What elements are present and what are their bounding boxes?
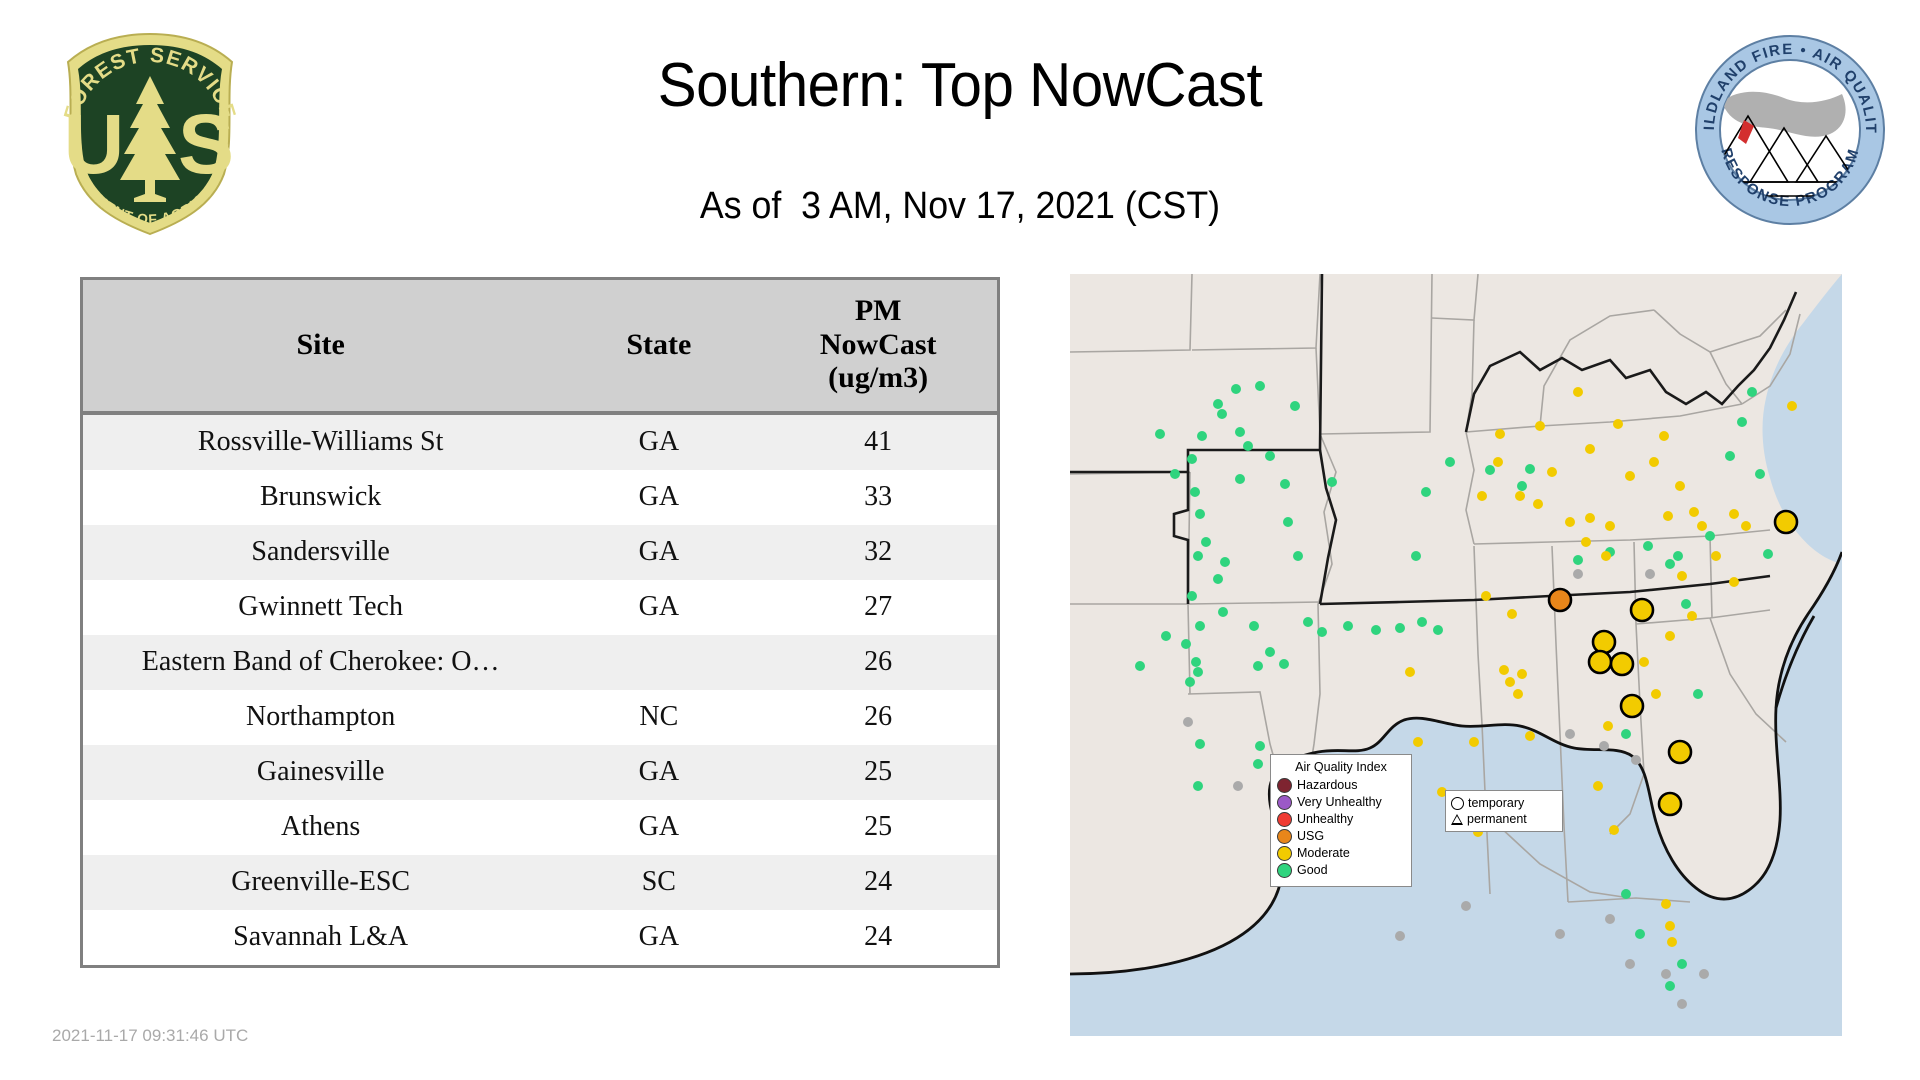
monitor-dot[interactable] bbox=[1195, 739, 1205, 749]
footer-timestamp: 2021-11-17 09:31:46 UTC bbox=[52, 1026, 248, 1046]
aqi-legend-label: Good bbox=[1297, 864, 1328, 877]
usfs-logo: FOREST SERVICE DEPARTMENT OF AGRICULTURE… bbox=[46, 28, 254, 240]
monitor-dot[interactable] bbox=[1517, 669, 1527, 679]
monitor-dot[interactable] bbox=[1661, 899, 1671, 909]
usfs-monogram-s: S bbox=[178, 97, 234, 191]
monitor-dot[interactable] bbox=[1185, 677, 1195, 687]
monitor-dot[interactable] bbox=[1677, 571, 1687, 581]
monitor-dot[interactable] bbox=[1283, 517, 1293, 527]
monitor-dot[interactable] bbox=[1461, 901, 1471, 911]
monitor-dot[interactable] bbox=[1625, 959, 1635, 969]
table-row[interactable]: Savannah L&AGA24 bbox=[83, 910, 997, 965]
aqi-legend-title: Air Quality Index bbox=[1277, 760, 1405, 774]
monitor-dot[interactable] bbox=[1573, 569, 1583, 579]
table-row[interactable]: Greenville-ESCSC24 bbox=[83, 855, 997, 910]
monitor-dot[interactable] bbox=[1699, 969, 1709, 979]
state-cell: GA bbox=[558, 525, 759, 580]
monitor-dot[interactable] bbox=[1651, 689, 1661, 699]
monitor-dot[interactable] bbox=[1609, 825, 1619, 835]
monitor-dot[interactable] bbox=[1585, 444, 1595, 454]
monitor-dot[interactable] bbox=[1729, 509, 1739, 519]
aqi-legend-item: Hazardous bbox=[1277, 777, 1405, 794]
column-header-pm-line2: NowCast bbox=[763, 328, 993, 362]
marker-legend-item-temporary: temporary bbox=[1451, 795, 1557, 811]
monitor-dot[interactable] bbox=[1603, 721, 1613, 731]
highlighted-monitor-dot[interactable] bbox=[1631, 599, 1653, 621]
table-row[interactable]: NorthamptonNC26 bbox=[83, 690, 997, 745]
monitor-dot[interactable] bbox=[1555, 929, 1565, 939]
monitor-dot[interactable] bbox=[1711, 551, 1721, 561]
monitor-dot[interactable] bbox=[1195, 509, 1205, 519]
monitor-dot[interactable] bbox=[1533, 499, 1543, 509]
monitor-dot[interactable] bbox=[1433, 625, 1443, 635]
monitor-dot[interactable] bbox=[1581, 537, 1591, 547]
monitor-dot[interactable] bbox=[1187, 454, 1197, 464]
monitor-dot[interactable] bbox=[1631, 755, 1641, 765]
monitor-dot[interactable] bbox=[1787, 401, 1797, 411]
monitor-dot[interactable] bbox=[1665, 921, 1675, 931]
highlighted-monitor-dot[interactable] bbox=[1593, 631, 1615, 653]
highlighted-monitor-dot[interactable] bbox=[1549, 589, 1571, 611]
monitor-dot[interactable] bbox=[1493, 457, 1503, 467]
highlighted-monitor-dot[interactable] bbox=[1775, 511, 1797, 533]
monitor-dot[interactable] bbox=[1218, 607, 1228, 617]
monitor-dot[interactable] bbox=[1413, 737, 1423, 747]
monitor-dot[interactable] bbox=[1213, 399, 1223, 409]
site-cell: Gwinnett Tech bbox=[83, 580, 558, 635]
monitor-dot[interactable] bbox=[1243, 441, 1253, 451]
aqi-legend-label: Moderate bbox=[1297, 847, 1350, 860]
column-header-state[interactable]: State bbox=[558, 280, 759, 413]
state-cell bbox=[558, 635, 759, 690]
monitor-dot[interactable] bbox=[1477, 491, 1487, 501]
column-header-site[interactable]: Site bbox=[83, 280, 558, 413]
monitor-dot[interactable] bbox=[1693, 689, 1703, 699]
site-cell: Athens bbox=[83, 800, 558, 855]
aqi-color-swatch bbox=[1277, 863, 1292, 878]
monitor-dot[interactable] bbox=[1371, 625, 1381, 635]
monitor-dot[interactable] bbox=[1265, 451, 1275, 461]
aqi-legend-label: Unhealthy bbox=[1297, 813, 1353, 826]
monitor-dot[interactable] bbox=[1187, 591, 1197, 601]
waqrp-logo: WILDLAND FIRE • AIR QUALITY RESPONSE PRO… bbox=[1692, 32, 1888, 228]
monitor-dot[interactable] bbox=[1689, 507, 1699, 517]
highlighted-monitor-dot[interactable] bbox=[1669, 741, 1691, 763]
monitor-dot[interactable] bbox=[1593, 781, 1603, 791]
monitor-dot[interactable] bbox=[1547, 467, 1557, 477]
site-cell: Savannah L&A bbox=[83, 910, 558, 965]
monitor-dot[interactable] bbox=[1625, 471, 1635, 481]
site-cell: Sandersville bbox=[83, 525, 558, 580]
monitor-dot[interactable] bbox=[1667, 937, 1677, 947]
monitor-dot[interactable] bbox=[1621, 729, 1631, 739]
monitor-dot[interactable] bbox=[1605, 521, 1615, 531]
aqi-color-swatch bbox=[1277, 846, 1292, 861]
monitor-dot[interactable] bbox=[1445, 457, 1455, 467]
page-title: Southern: Top NowCast bbox=[396, 50, 1524, 121]
pm-cell: 32 bbox=[759, 525, 997, 580]
state-cell: SC bbox=[558, 855, 759, 910]
aqi-legend-label: Very Unhealthy bbox=[1297, 796, 1382, 809]
monitor-dot[interactable] bbox=[1253, 759, 1263, 769]
monitor-dot[interactable] bbox=[1763, 549, 1773, 559]
table-row[interactable]: SandersvilleGA32 bbox=[83, 525, 997, 580]
monitor-dot[interactable] bbox=[1220, 557, 1230, 567]
monitor-dot[interactable] bbox=[1485, 465, 1495, 475]
pm-cell: 25 bbox=[759, 745, 997, 800]
monitor-dot[interactable] bbox=[1197, 431, 1207, 441]
site-cell: Brunswick bbox=[83, 470, 558, 525]
monitor-dot[interactable] bbox=[1517, 481, 1527, 491]
monitor-dot[interactable] bbox=[1665, 631, 1675, 641]
monitor-dot[interactable] bbox=[1265, 647, 1275, 657]
aqi-legend-label: USG bbox=[1297, 830, 1324, 843]
monitor-dot[interactable] bbox=[1161, 631, 1171, 641]
monitor-dot[interactable] bbox=[1729, 577, 1739, 587]
marker-legend-label-permanent: permanent bbox=[1467, 812, 1527, 826]
monitor-dot[interactable] bbox=[1135, 661, 1145, 671]
monitor-dot[interactable] bbox=[1585, 513, 1595, 523]
highlighted-monitor-dot[interactable] bbox=[1659, 793, 1681, 815]
monitor-dot[interactable] bbox=[1507, 609, 1517, 619]
monitor-dot[interactable] bbox=[1665, 559, 1675, 569]
nowcast-table-container: Site State PM NowCast (ug/m3) Rossville-… bbox=[80, 277, 1000, 968]
monitor-dot[interactable] bbox=[1639, 657, 1649, 667]
monitor-dot[interactable] bbox=[1290, 401, 1300, 411]
monitor-dot[interactable] bbox=[1191, 657, 1201, 667]
aqi-legend-rows: HazardousVery UnhealthyUnhealthyUSGModer… bbox=[1277, 777, 1405, 879]
column-header-pm-line1: PM bbox=[763, 294, 993, 328]
monitor-dot[interactable] bbox=[1193, 551, 1203, 561]
monitor-dot[interactable] bbox=[1235, 427, 1245, 437]
table-row[interactable]: Eastern Band of Cherokee: O…26 bbox=[83, 635, 997, 690]
aqi-legend-label: Hazardous bbox=[1297, 779, 1357, 792]
table-row[interactable]: GainesvilleGA25 bbox=[83, 745, 997, 800]
site-cell: Rossville-Williams St bbox=[83, 413, 558, 470]
map-graphic bbox=[1070, 274, 1842, 1036]
monitor-dot[interactable] bbox=[1155, 429, 1165, 439]
state-cell: GA bbox=[558, 745, 759, 800]
monitor-dot[interactable] bbox=[1481, 591, 1491, 601]
circle-marker-icon bbox=[1451, 797, 1464, 810]
monitor-dot[interactable] bbox=[1515, 491, 1525, 501]
monitor-dot[interactable] bbox=[1317, 627, 1327, 637]
monitor-dot[interactable] bbox=[1665, 981, 1675, 991]
monitor-dot[interactable] bbox=[1525, 464, 1535, 474]
aqi-legend-item: Good bbox=[1277, 862, 1405, 879]
monitor-dot[interactable] bbox=[1697, 521, 1707, 531]
monitor-dot[interactable] bbox=[1249, 621, 1259, 631]
monitor-dot[interactable] bbox=[1725, 451, 1735, 461]
site-cell: Gainesville bbox=[83, 745, 558, 800]
pm-cell: 33 bbox=[759, 470, 997, 525]
state-cell: GA bbox=[558, 800, 759, 855]
monitor-dot[interactable] bbox=[1513, 689, 1523, 699]
highlighted-monitor-dot[interactable] bbox=[1589, 651, 1611, 673]
monitor-dot[interactable] bbox=[1747, 387, 1757, 397]
monitor-dot[interactable] bbox=[1621, 889, 1631, 899]
monitor-dot[interactable] bbox=[1499, 665, 1509, 675]
monitor-dot[interactable] bbox=[1705, 531, 1715, 541]
monitor-dot[interactable] bbox=[1601, 551, 1611, 561]
state-cell: GA bbox=[558, 413, 759, 470]
monitor-dot[interactable] bbox=[1687, 611, 1697, 621]
monitor-dot[interactable] bbox=[1613, 419, 1623, 429]
monitor-dot[interactable] bbox=[1235, 474, 1245, 484]
table-header-row: Site State PM NowCast (ug/m3) bbox=[83, 280, 997, 413]
monitor-dot[interactable] bbox=[1170, 469, 1180, 479]
monitor-map[interactable]: Air Quality Index HazardousVery Unhealth… bbox=[1070, 274, 1842, 1036]
page-subtitle: As of 3 AM, Nov 17, 2021 (CST) bbox=[396, 185, 1524, 228]
aqi-legend-item: Unhealthy bbox=[1277, 811, 1405, 828]
site-cell: Greenville-ESC bbox=[83, 855, 558, 910]
pm-cell: 24 bbox=[759, 855, 997, 910]
column-header-pm-line3: (ug/m3) bbox=[763, 361, 993, 395]
monitor-dot[interactable] bbox=[1661, 969, 1671, 979]
table-header: Site State PM NowCast (ug/m3) bbox=[83, 280, 997, 413]
monitor-dot[interactable] bbox=[1659, 431, 1669, 441]
table-body: Rossville-Williams StGA41BrunswickGA33Sa… bbox=[83, 413, 997, 965]
monitor-dot[interactable] bbox=[1255, 381, 1265, 391]
monitor-dot[interactable] bbox=[1573, 555, 1583, 565]
aqi-color-swatch bbox=[1277, 829, 1292, 844]
monitor-dot[interactable] bbox=[1643, 541, 1653, 551]
aqi-legend-item: Very Unhealthy bbox=[1277, 794, 1405, 811]
marker-legend-label-temporary: temporary bbox=[1468, 796, 1524, 810]
monitor-dot[interactable] bbox=[1343, 621, 1353, 631]
monitor-dot[interactable] bbox=[1327, 477, 1337, 487]
monitor-dot[interactable] bbox=[1645, 569, 1655, 579]
monitor-dot[interactable] bbox=[1673, 551, 1683, 561]
aqi-legend-item: USG bbox=[1277, 828, 1405, 845]
monitor-dot[interactable] bbox=[1201, 537, 1211, 547]
monitor-dot[interactable] bbox=[1649, 457, 1659, 467]
monitor-dot[interactable] bbox=[1183, 717, 1193, 727]
monitor-dot[interactable] bbox=[1677, 959, 1687, 969]
monitor-dot[interactable] bbox=[1573, 387, 1583, 397]
monitor-dot[interactable] bbox=[1395, 623, 1405, 633]
monitor-dot[interactable] bbox=[1280, 479, 1290, 489]
monitor-dot[interactable] bbox=[1565, 517, 1575, 527]
table-row[interactable]: AthensGA25 bbox=[83, 800, 997, 855]
triangle-marker-icon bbox=[1451, 814, 1463, 825]
state-cell: GA bbox=[558, 910, 759, 965]
monitor-dot[interactable] bbox=[1417, 617, 1427, 627]
monitor-dot[interactable] bbox=[1675, 481, 1685, 491]
monitor-dot[interactable] bbox=[1193, 781, 1203, 791]
monitor-dot[interactable] bbox=[1565, 729, 1575, 739]
aqi-color-swatch bbox=[1277, 795, 1292, 810]
pm-cell: 41 bbox=[759, 413, 997, 470]
monitor-dot[interactable] bbox=[1233, 781, 1243, 791]
table-row[interactable]: BrunswickGA33 bbox=[83, 470, 997, 525]
highlighted-monitor-dot[interactable] bbox=[1621, 695, 1643, 717]
monitor-dot[interactable] bbox=[1181, 639, 1191, 649]
pm-cell: 26 bbox=[759, 635, 997, 690]
monitor-dot[interactable] bbox=[1395, 931, 1405, 941]
monitor-dot[interactable] bbox=[1421, 487, 1431, 497]
state-cell: NC bbox=[558, 690, 759, 745]
pm-cell: 27 bbox=[759, 580, 997, 635]
monitor-dot[interactable] bbox=[1231, 384, 1241, 394]
aqi-color-swatch bbox=[1277, 778, 1292, 793]
monitor-dot[interactable] bbox=[1411, 551, 1421, 561]
pm-cell: 25 bbox=[759, 800, 997, 855]
aqi-color-swatch bbox=[1277, 812, 1292, 827]
marker-type-legend: temporary permanent bbox=[1445, 790, 1563, 832]
monitor-dot[interactable] bbox=[1681, 599, 1691, 609]
monitor-dot[interactable] bbox=[1193, 667, 1203, 677]
nowcast-table: Site State PM NowCast (ug/m3) Rossville-… bbox=[83, 280, 997, 965]
monitor-dot[interactable] bbox=[1279, 659, 1289, 669]
site-cell: Eastern Band of Cherokee: O… bbox=[83, 635, 558, 690]
table-row[interactable]: Gwinnett TechGA27 bbox=[83, 580, 997, 635]
monitor-dot[interactable] bbox=[1535, 421, 1545, 431]
aqi-legend-item: Moderate bbox=[1277, 845, 1405, 862]
monitor-dot[interactable] bbox=[1677, 999, 1687, 1009]
state-cell: GA bbox=[558, 580, 759, 635]
usfs-monogram-u: U bbox=[64, 97, 125, 191]
monitor-dot[interactable] bbox=[1599, 741, 1609, 751]
monitor-dot[interactable] bbox=[1303, 617, 1313, 627]
monitor-dot[interactable] bbox=[1737, 417, 1747, 427]
monitor-dot[interactable] bbox=[1213, 574, 1223, 584]
monitor-dot[interactable] bbox=[1405, 667, 1415, 677]
monitor-dot[interactable] bbox=[1293, 551, 1303, 561]
monitor-dot[interactable] bbox=[1469, 737, 1479, 747]
monitor-dot[interactable] bbox=[1635, 929, 1645, 939]
monitor-dot[interactable] bbox=[1755, 469, 1765, 479]
monitor-dot[interactable] bbox=[1663, 511, 1673, 521]
monitor-dot[interactable] bbox=[1505, 677, 1515, 687]
monitor-dot[interactable] bbox=[1255, 741, 1265, 751]
monitor-dot[interactable] bbox=[1741, 521, 1751, 531]
pm-cell: 26 bbox=[759, 690, 997, 745]
monitor-dot[interactable] bbox=[1190, 487, 1200, 497]
monitor-dot[interactable] bbox=[1253, 661, 1263, 671]
monitor-dot[interactable] bbox=[1217, 409, 1227, 419]
site-cell: Northampton bbox=[83, 690, 558, 745]
monitor-dot[interactable] bbox=[1495, 429, 1505, 439]
pm-cell: 24 bbox=[759, 910, 997, 965]
monitor-dot[interactable] bbox=[1195, 621, 1205, 631]
aqi-legend: Air Quality Index HazardousVery Unhealth… bbox=[1270, 754, 1412, 887]
state-cell: GA bbox=[558, 470, 759, 525]
monitor-dot[interactable] bbox=[1525, 731, 1535, 741]
column-header-pm-nowcast[interactable]: PM NowCast (ug/m3) bbox=[759, 280, 997, 413]
highlighted-monitor-dot[interactable] bbox=[1611, 653, 1633, 675]
monitor-dot[interactable] bbox=[1605, 914, 1615, 924]
table-row[interactable]: Rossville-Williams StGA41 bbox=[83, 413, 997, 470]
marker-legend-item-permanent: permanent bbox=[1451, 811, 1557, 827]
